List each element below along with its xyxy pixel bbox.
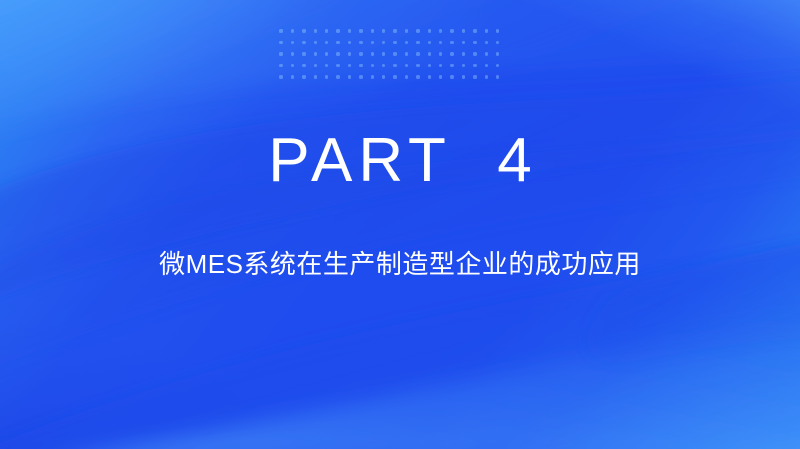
grid-dot — [413, 49, 424, 61]
grid-dot — [493, 72, 504, 84]
grid-dot — [401, 38, 412, 50]
grid-dot — [436, 72, 447, 84]
grid-dot — [459, 26, 470, 38]
grid-dot — [299, 61, 310, 73]
grid-dot — [459, 49, 470, 61]
grid-dot — [333, 61, 344, 73]
grid-dot — [390, 26, 401, 38]
grid-dot — [470, 49, 481, 61]
grid-dot — [356, 26, 367, 38]
grid-dot — [413, 72, 424, 84]
grid-dot — [424, 26, 435, 38]
grid-dot — [481, 49, 492, 61]
grid-dot — [447, 61, 458, 73]
page-title: PART 4 — [0, 126, 800, 196]
grid-dot — [424, 49, 435, 61]
grid-dot — [367, 72, 378, 84]
grid-dot — [424, 38, 435, 50]
grid-dot — [356, 38, 367, 50]
grid-dot — [470, 38, 481, 50]
dot-grid-row — [276, 61, 504, 73]
grid-dot — [390, 61, 401, 73]
grid-dot — [379, 61, 390, 73]
grid-dot — [344, 38, 355, 50]
grid-dot — [367, 61, 378, 73]
grid-dot — [447, 72, 458, 84]
grid-dot — [322, 61, 333, 73]
grid-dot — [356, 61, 367, 73]
grid-dot — [413, 61, 424, 73]
grid-dot — [401, 49, 412, 61]
grid-dot — [287, 49, 298, 61]
presentation-slide: PART 4 微MES系统在生产制造型企业的成功应用 — [0, 0, 800, 449]
grid-dot — [390, 38, 401, 50]
wave-bottom-right-light — [40, 300, 800, 449]
grid-dot — [299, 49, 310, 61]
grid-dot — [322, 49, 333, 61]
grid-dot — [401, 26, 412, 38]
grid-dot — [470, 72, 481, 84]
grid-dot — [401, 61, 412, 73]
grid-dot — [436, 38, 447, 50]
grid-dot — [356, 72, 367, 84]
grid-dot — [356, 49, 367, 61]
slide-subtitle: 微MES系统在生产制造型企业的成功应用 — [0, 196, 800, 281]
grid-dot — [379, 26, 390, 38]
grid-dot — [379, 38, 390, 50]
grid-dot — [379, 49, 390, 61]
grid-dot — [276, 61, 287, 73]
grid-dot — [333, 38, 344, 50]
dot-grid-pattern — [276, 26, 504, 76]
slide-text-block: PART 4 微MES系统在生产制造型企业的成功应用 — [0, 126, 800, 281]
dot-grid-row — [276, 72, 504, 84]
grid-dot — [344, 49, 355, 61]
grid-dot — [390, 72, 401, 84]
grid-dot — [287, 38, 298, 50]
grid-dot — [310, 61, 321, 73]
grid-dot — [481, 72, 492, 84]
grid-dot — [447, 49, 458, 61]
grid-dot — [310, 49, 321, 61]
grid-dot — [481, 26, 492, 38]
grid-dot — [493, 38, 504, 50]
grid-dot — [459, 38, 470, 50]
grid-dot — [310, 26, 321, 38]
grid-dot — [481, 38, 492, 50]
grid-dot — [344, 72, 355, 84]
grid-dot — [447, 26, 458, 38]
grid-dot — [436, 26, 447, 38]
grid-dot — [367, 26, 378, 38]
grid-dot — [310, 38, 321, 50]
grid-dot — [322, 26, 333, 38]
grid-dot — [333, 26, 344, 38]
grid-dot — [333, 72, 344, 84]
grid-dot — [287, 61, 298, 73]
grid-dot — [367, 38, 378, 50]
grid-dot — [322, 38, 333, 50]
grid-dot — [481, 61, 492, 73]
grid-dot — [310, 72, 321, 84]
dot-grid-row — [276, 38, 504, 50]
grid-dot — [424, 61, 435, 73]
grid-dot — [390, 49, 401, 61]
grid-dot — [436, 49, 447, 61]
grid-dot — [276, 38, 287, 50]
grid-dot — [447, 38, 458, 50]
grid-dot — [470, 26, 481, 38]
grid-dot — [493, 49, 504, 61]
grid-dot — [287, 72, 298, 84]
grid-dot — [276, 26, 287, 38]
grid-dot — [401, 72, 412, 84]
grid-dot — [493, 61, 504, 73]
grid-dot — [299, 38, 310, 50]
grid-dot — [276, 49, 287, 61]
grid-dot — [367, 49, 378, 61]
grid-dot — [322, 72, 333, 84]
grid-dot — [344, 26, 355, 38]
grid-dot — [436, 61, 447, 73]
grid-dot — [299, 26, 310, 38]
grid-dot — [379, 72, 390, 84]
grid-dot — [299, 72, 310, 84]
grid-dot — [493, 26, 504, 38]
grid-dot — [413, 26, 424, 38]
grid-dot — [459, 61, 470, 73]
grid-dot — [333, 49, 344, 61]
grid-dot — [413, 38, 424, 50]
grid-dot — [470, 61, 481, 73]
grid-dot — [459, 72, 470, 84]
grid-dot — [287, 26, 298, 38]
grid-dot — [424, 72, 435, 84]
grid-dot — [344, 61, 355, 73]
dot-grid-row — [276, 26, 504, 38]
grid-dot — [276, 72, 287, 84]
dot-grid-row — [276, 49, 504, 61]
